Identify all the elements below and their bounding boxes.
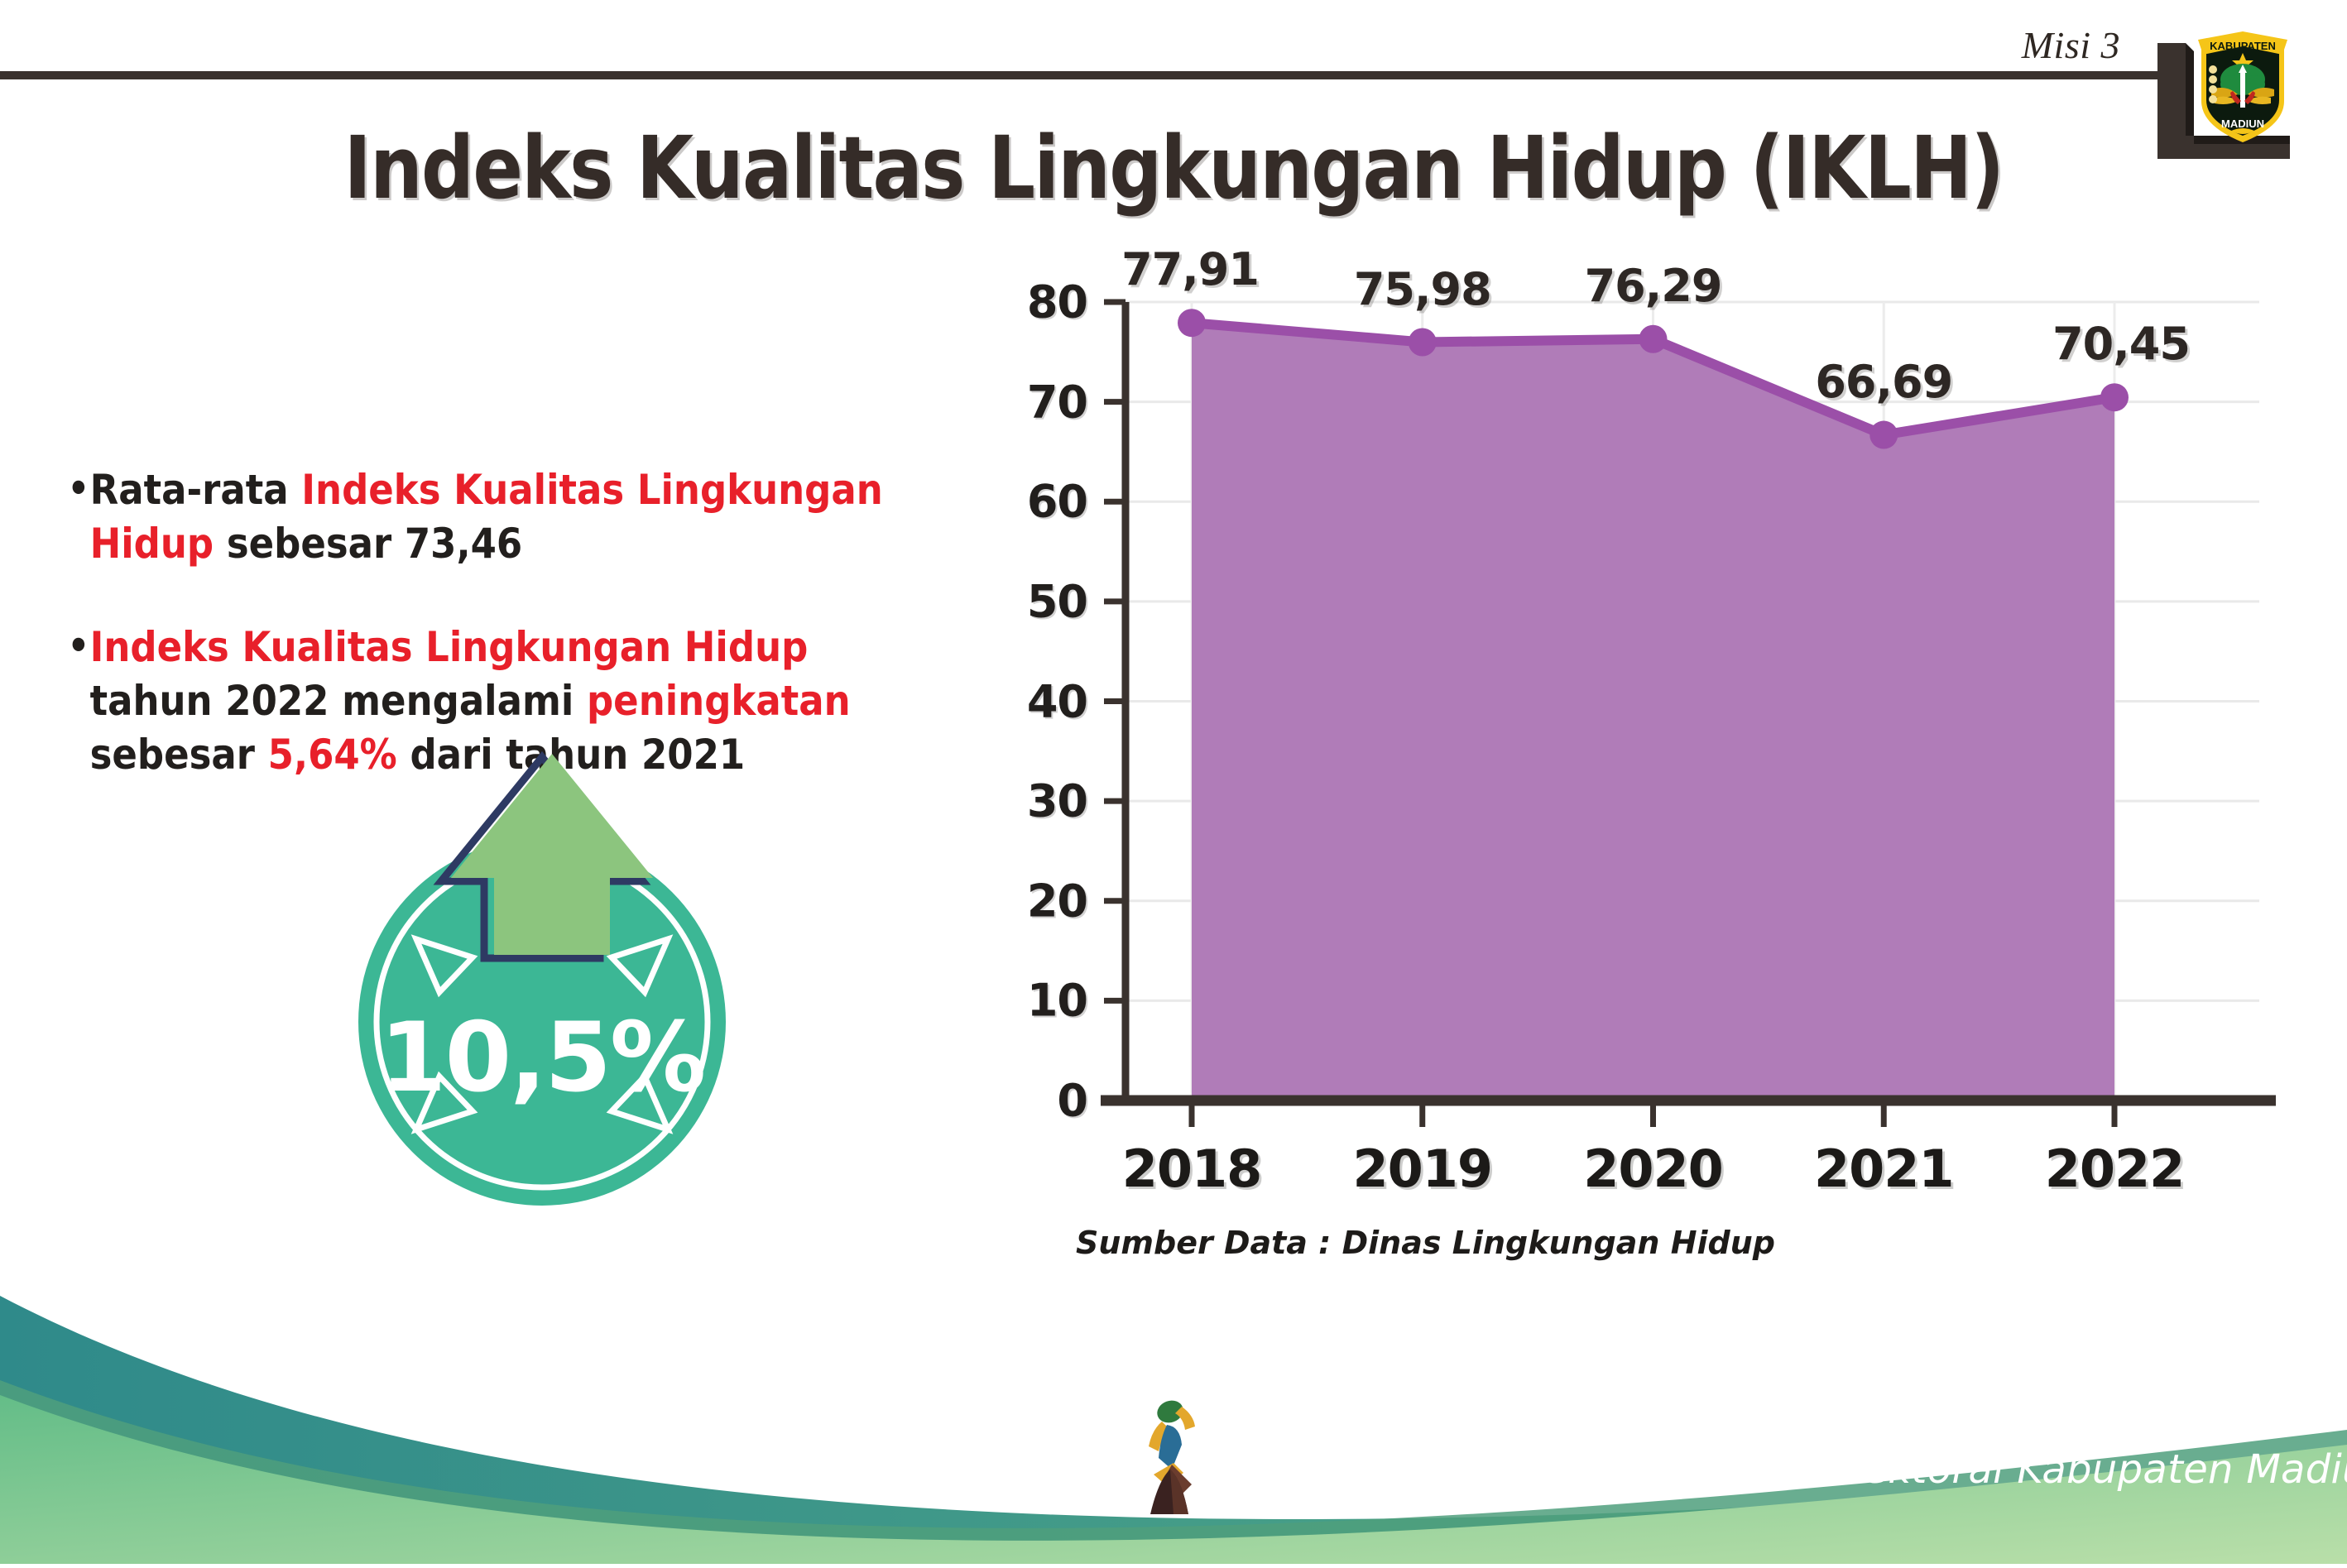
x-axis-tick-label: 2022: [2045, 1139, 2185, 1199]
bullet-marker-icon: •: [68, 464, 89, 514]
data-point-label: 77,91: [1121, 243, 1259, 295]
data-point-marker: [1178, 309, 1206, 337]
y-axis-tick-label: 40: [988, 675, 1087, 727]
x-axis-tick-label: 2021: [1814, 1139, 1954, 1199]
data-point-label: 66,69: [1815, 356, 1952, 408]
data-point-marker: [2100, 383, 2129, 411]
y-axis-tick-label: 0: [988, 1075, 1087, 1127]
bullet-marker-icon: •: [68, 621, 89, 671]
kabupaten-madiun-emblem-icon: KABUPATEN MADIUN: [2190, 22, 2296, 147]
bullet-text-part: tahun 2022 mengalami: [90, 677, 587, 725]
area-fill: [1192, 323, 2114, 1100]
y-axis-tick-label: 60: [988, 476, 1087, 528]
bullet-text-part: peningkatan: [587, 677, 851, 725]
emblem-top-text: KABUPATEN: [2210, 40, 2276, 52]
bullet-text-part: Rata-rata: [90, 466, 302, 514]
x-axis-tick-label: 2020: [1583, 1139, 1723, 1199]
media-infografis-logo-icon: [1134, 1393, 1226, 1516]
data-point-label: 70,45: [2052, 318, 2190, 370]
chart-canvas: [985, 273, 2276, 1200]
data-point-marker: [1869, 421, 1898, 449]
data-point-marker: [1409, 328, 1437, 356]
bullet-text-part: sebesar: [90, 731, 268, 779]
emblem-bottom-text: MADIUN: [2221, 117, 2264, 130]
badge-percent-value: 10,5%: [319, 1002, 766, 1114]
y-axis-tick-label: 80: [988, 276, 1087, 328]
data-point-label: 76,29: [1585, 260, 1722, 312]
y-axis-tick-label: 20: [988, 875, 1087, 927]
page-title: Indeks Kualitas Lingkungan Hidup (IKLH): [165, 117, 2183, 218]
y-axis-tick-label: 70: [988, 376, 1087, 428]
data-point-marker: [1639, 325, 1668, 353]
bullet-text-part: Indeks Kualitas Lingkungan Hidup: [90, 623, 809, 671]
footer-caption: Media Infografis Data Statistik Sektoral…: [1217, 1446, 2347, 1493]
x-axis-tick-label: 2018: [1122, 1139, 1262, 1199]
footer-wave-band: Media Infografis Data Statistik Sektoral…: [0, 1291, 2347, 1564]
y-axis-tick-label: 50: [988, 575, 1087, 627]
iklh-area-chart: 010203040506070802018201920202021202277,…: [985, 273, 2276, 1200]
header-divider-rule: [0, 71, 2170, 79]
badge-graphic: [319, 749, 766, 1212]
x-axis-tick-label: 2019: [1352, 1139, 1492, 1199]
mission-label: Misi 3: [2022, 23, 2120, 67]
y-axis-tick-label: 30: [988, 775, 1087, 827]
data-point-label: 75,98: [1354, 263, 1491, 315]
y-axis-tick-label: 10: [988, 975, 1087, 1027]
increase-badge: 10,5%: [319, 749, 766, 1212]
bullet-text-part: sebesar 73,46: [214, 520, 522, 568]
chart-source-note: Sumber Data : Dinas Lingkungan Hidup: [1076, 1225, 1775, 1261]
bullet-item: •Rata-rata Indeks Kualitas Lingkungan Hi…: [65, 463, 899, 571]
